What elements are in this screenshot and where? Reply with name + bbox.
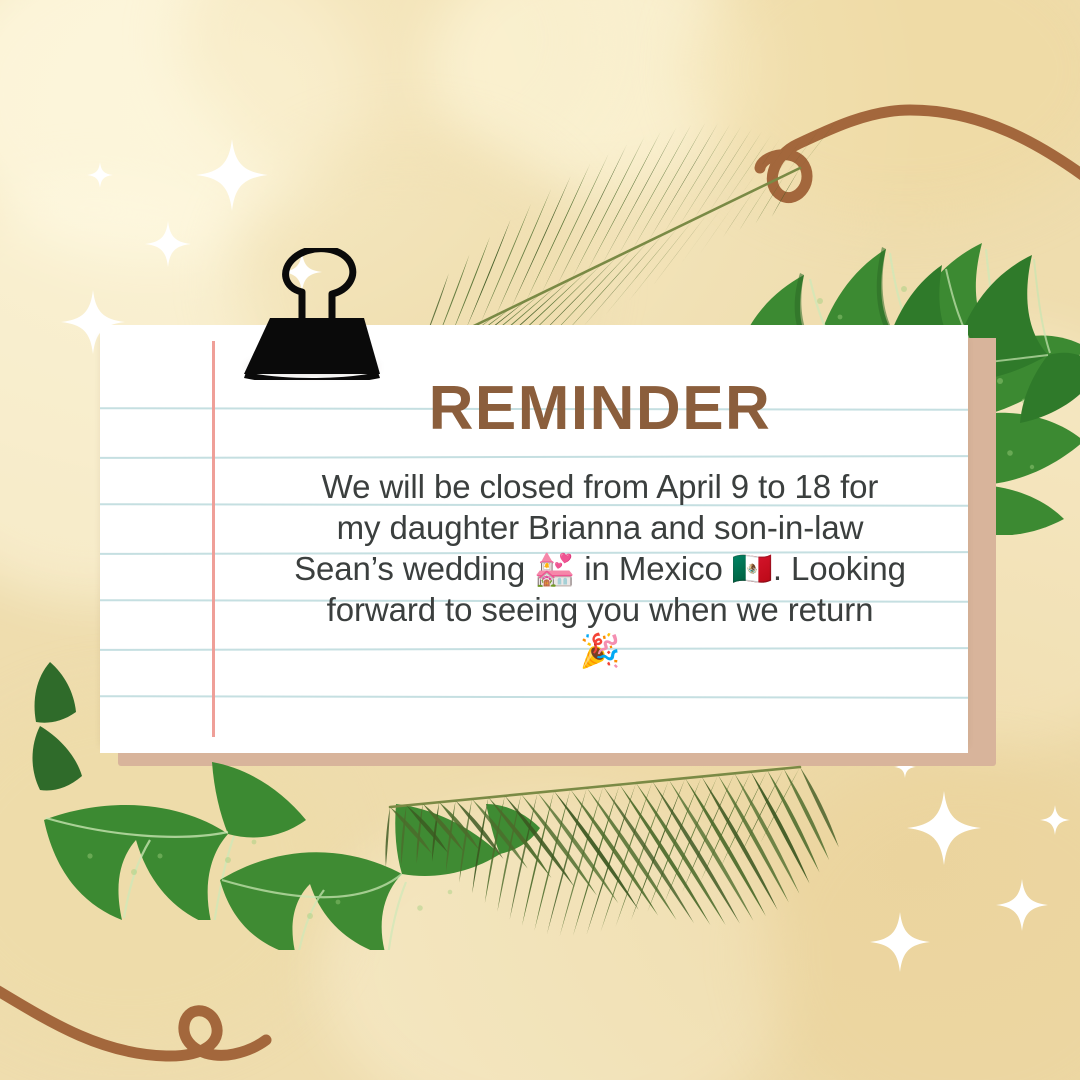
sparkle-star-icon — [870, 912, 930, 972]
page-title: REMINDER — [250, 378, 950, 440]
palm-frond-bottom — [360, 745, 840, 965]
sparkle-star-icon — [196, 139, 268, 211]
sparkle-star-icon — [996, 879, 1048, 931]
note-body-line: forward to seeing you when we return — [327, 591, 874, 628]
sparkle-star-icon — [87, 162, 113, 188]
note-body-line: We will be closed from April 9 to 18 for — [322, 468, 879, 505]
emoji-glyph: 🎉 — [580, 631, 621, 670]
paper-torn-edge-top — [100, 325, 968, 341]
note-content: REMINDER We will be closed from April 9 … — [250, 378, 950, 671]
swirl-line-bottomleft-icon — [0, 950, 330, 1080]
note-body-text: We will be closed from April 9 to 18 for… — [250, 466, 950, 671]
sparkle-star-icon — [1040, 805, 1070, 835]
emoji-glyph: 💒 — [534, 549, 575, 588]
poster-canvas: REMINDER We will be closed from April 9 … — [0, 0, 1080, 1080]
emoji-glyph: 🇲🇽 — [732, 549, 773, 588]
note-body-line: 🎉 — [580, 632, 621, 669]
binder-clip-icon — [240, 248, 390, 380]
sparkle-star-icon — [145, 221, 191, 267]
sparkle-star-icon — [907, 791, 981, 865]
note-body-line: my daughter Brianna and son-in-law — [337, 509, 864, 546]
note-body-line: Sean’s wedding 💒 in Mexico 🇲🇽. Looking — [294, 550, 906, 587]
